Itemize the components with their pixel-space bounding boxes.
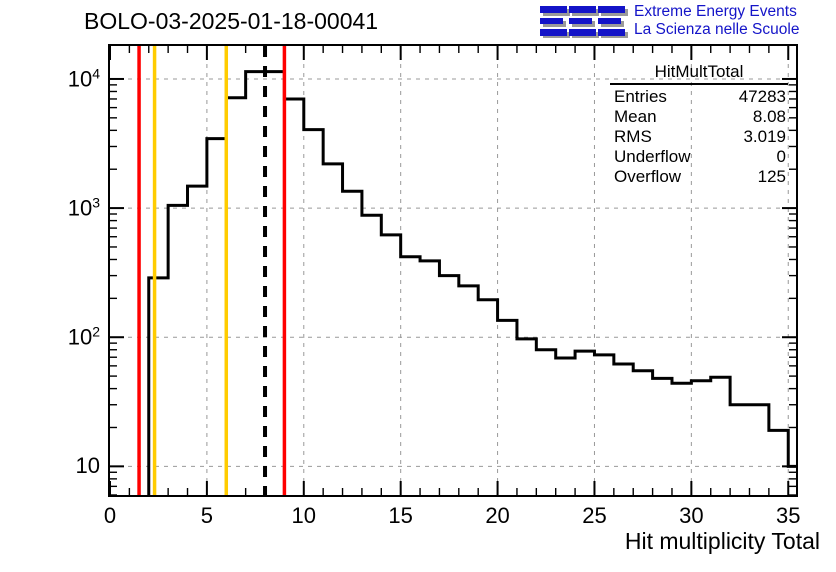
stats-row: RMS3.019 xyxy=(610,127,788,147)
stats-row-key: RMS xyxy=(610,127,652,147)
stats-row-value: 125 xyxy=(758,167,788,187)
stats-row: Mean8.08 xyxy=(610,107,788,127)
stats-row-value: 0 xyxy=(777,147,788,167)
histogram-canvas: BOLO-03-2025-01-18-00041 Extreme Energy … xyxy=(0,0,836,572)
stats-row-value: 47283 xyxy=(739,87,788,107)
y-tick-mantissa: 10 xyxy=(68,196,92,221)
x-tick-label: 35 xyxy=(776,503,800,529)
stats-row: Overflow125 xyxy=(610,167,788,187)
eee-logo-line1: Extreme Energy Events xyxy=(634,3,834,21)
stats-row: Underflow0 xyxy=(610,147,788,167)
stats-box: HitMultTotal Entries47283Mean8.08RMS3.01… xyxy=(610,62,788,187)
y-tick-exponent: 4 xyxy=(92,65,100,81)
x-tick-label: 5 xyxy=(201,503,213,529)
y-tick-mantissa: 10 xyxy=(68,325,92,350)
stats-title: HitMultTotal xyxy=(610,62,788,85)
y-tick-exponent: 2 xyxy=(92,324,100,340)
x-tick-label: 15 xyxy=(388,503,412,529)
y-tick-mantissa: 10 xyxy=(68,67,92,92)
stats-row-key: Underflow xyxy=(610,147,691,167)
y-tick-label: 104 xyxy=(68,65,100,92)
stats-row-value: 8.08 xyxy=(753,107,788,127)
x-tick-label: 20 xyxy=(485,503,509,529)
stats-row: Entries47283 xyxy=(610,87,788,107)
stats-row-value: 3.019 xyxy=(743,127,788,147)
plot-title: BOLO-03-2025-01-18-00041 xyxy=(84,8,378,35)
stats-row-key: Mean xyxy=(610,107,657,127)
y-tick-exponent: 3 xyxy=(92,194,100,210)
x-axis-title: Hit multiplicity Total xyxy=(625,528,820,555)
x-tick-label: 0 xyxy=(104,503,116,529)
eee-logo: Extreme Energy Events La Scienza nelle S… xyxy=(540,2,832,42)
y-tick-mantissa: 10 xyxy=(76,453,100,478)
y-tick-label: 102 xyxy=(68,324,100,351)
eee-logo-text: Extreme Energy Events La Scienza nelle S… xyxy=(634,3,834,39)
eee-logo-line2: La Scienza nelle Scuole xyxy=(634,21,834,39)
x-tick-label: 30 xyxy=(679,503,703,529)
stats-row-key: Entries xyxy=(610,87,667,107)
y-tick-label: 103 xyxy=(68,194,100,221)
y-tick-label: 10 xyxy=(76,453,100,479)
eee-logo-mark-icon xyxy=(540,4,628,38)
stats-row-key: Overflow xyxy=(610,167,681,187)
stats-rows: Entries47283Mean8.08RMS3.019Underflow0Ov… xyxy=(610,87,788,187)
x-tick-label: 25 xyxy=(582,503,606,529)
x-tick-label: 10 xyxy=(292,503,316,529)
